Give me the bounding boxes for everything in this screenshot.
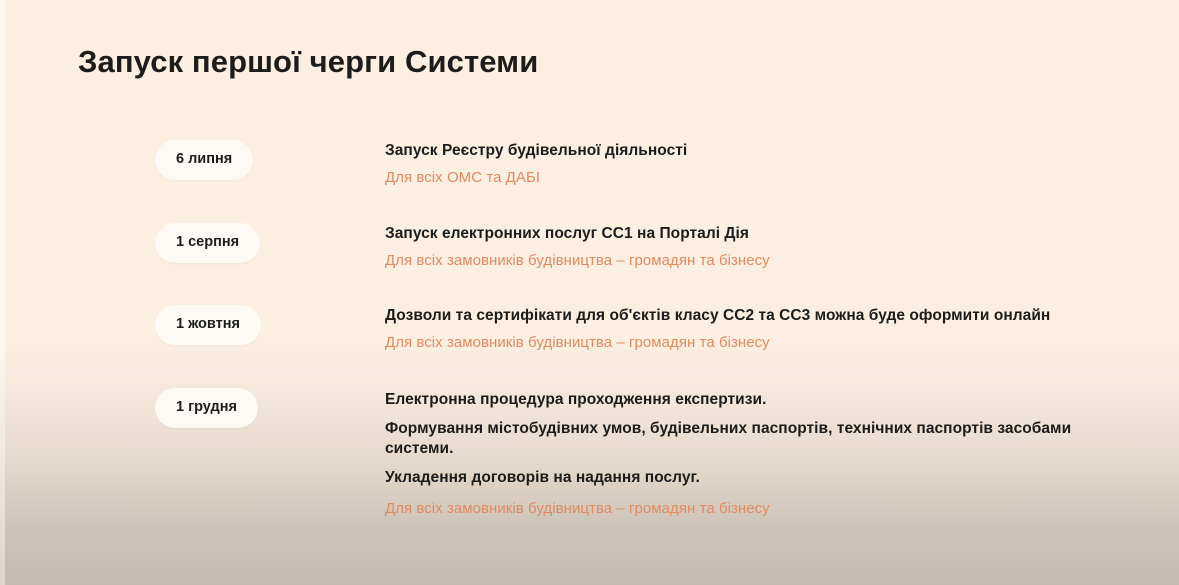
- timeline-subtitle: Для всіх замовників будівництва – громад…: [385, 333, 1179, 353]
- timeline-headline: Формування містобудівних умов, будівельн…: [385, 419, 1085, 459]
- timeline-headline: Електронна процедура проходження експерт…: [385, 390, 1179, 410]
- timeline-date-cell: 1 серпня: [0, 223, 195, 263]
- timeline-headline: Запуск Реєстру будівельної діяльності: [385, 141, 1179, 161]
- timeline-row: 1 грудня Електронна процедура проходженн…: [0, 388, 1179, 518]
- timeline-date-cell: 1 грудня: [0, 388, 195, 428]
- timeline-headline: Дозволи та сертифікати для об'єктів клас…: [385, 306, 1179, 326]
- timeline-content-cell: Електронна процедура проходження експерт…: [195, 388, 1179, 518]
- timeline-content-cell: Запуск Реєстру будівельної діяльності Дл…: [195, 140, 1179, 188]
- timeline-headline: Укладення договорів на надання послуг.: [385, 468, 1179, 488]
- timeline-content-cell: Дозволи та сертифікати для об'єктів клас…: [195, 305, 1179, 353]
- presentation-slide: Запуск першої черги Системи 6 липня Запу…: [0, 0, 1179, 585]
- slide-left-edge-strip: [0, 0, 5, 585]
- timeline-date-cell: 1 жовтня: [0, 305, 195, 345]
- timeline-row: 6 липня Запуск Реєстру будівельної діяль…: [0, 140, 1179, 188]
- timeline-headline: Запуск електронних послуг СС1 на Порталі…: [385, 224, 1179, 244]
- page-title: Запуск першої черги Системи: [78, 44, 538, 80]
- timeline-subtitle: Для всіх ОМС та ДАБІ: [385, 168, 1179, 188]
- timeline-row: 1 серпня Запуск електронних послуг СС1 н…: [0, 223, 1179, 271]
- timeline-content-cell: Запуск електронних послуг СС1 на Порталі…: [195, 223, 1179, 271]
- timeline-subtitle: Для всіх замовників будівництва – громад…: [385, 499, 1179, 519]
- timeline-date-cell: 6 липня: [0, 140, 195, 180]
- timeline-subtitle: Для всіх замовників будівництва – громад…: [385, 251, 1179, 271]
- timeline-row: 1 жовтня Дозволи та сертифікати для об'є…: [0, 305, 1179, 353]
